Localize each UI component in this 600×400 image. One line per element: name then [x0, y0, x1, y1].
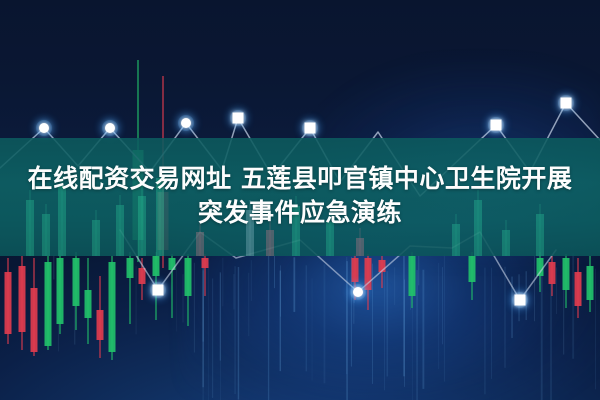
headline-block: 在线配资交易网址 五莲县叩官镇中心卫生院开展 突发事件应急演练 — [0, 162, 600, 229]
headline-line-1: 在线配资交易网址 五莲县叩官镇中心卫生院开展 — [0, 162, 600, 196]
banner-image: 在线配资交易网址 五莲县叩官镇中心卫生院开展 突发事件应急演练 — [0, 0, 600, 400]
headline-line-2: 突发事件应急演练 — [0, 196, 600, 230]
